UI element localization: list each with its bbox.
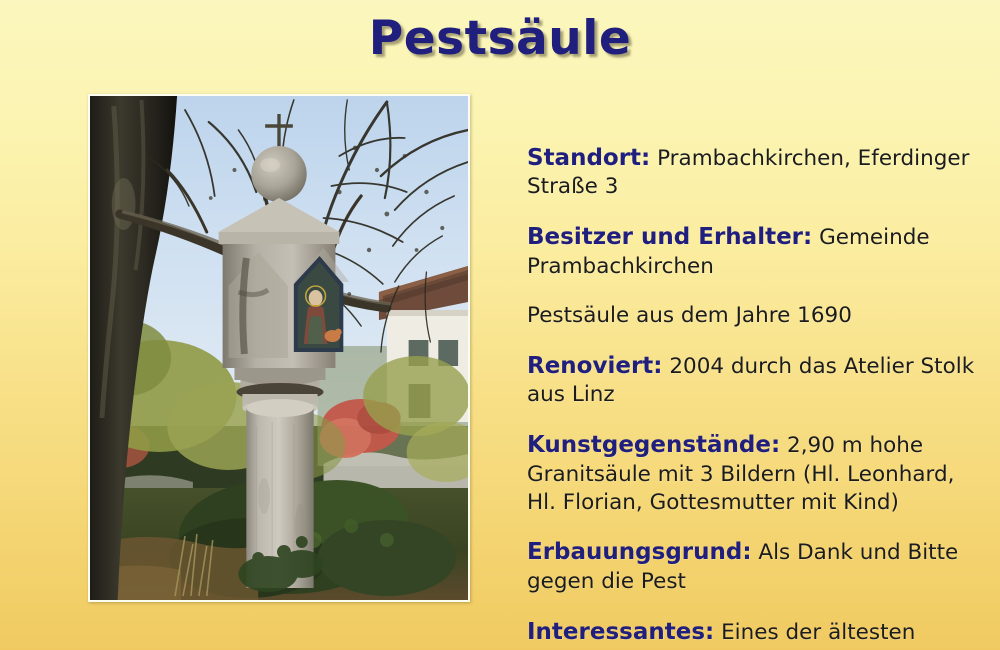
fact-baujahr: Pestsäule aus dem Jahre 1690 [527, 302, 975, 330]
fact-label-renoviert: Renoviert: [527, 353, 663, 379]
facts-list: Standort: Prambachkirchen, Eferdinger St… [527, 122, 975, 650]
page-title: Pestsäule [0, 14, 1000, 63]
slide-root: Pestsäule [0, 0, 1000, 650]
fact-besitzer: Besitzer und Erhalter: Gemeinde Prambach… [527, 223, 975, 281]
fact-renoviert: Renoviert: 2004 durch das Atelier Stolk … [527, 352, 975, 410]
fact-label-kunstgegenstaende: Kunstgegenstände: [527, 432, 780, 458]
fact-label-erbauungsgrund: Erbauungsgrund: [527, 539, 752, 565]
photo-frame [88, 94, 470, 602]
fact-interessantes: Interessantes: Eines der ältesten Denkmä… [527, 618, 975, 650]
stone-sphere [251, 146, 306, 202]
fact-erbauungsgrund: Erbauungsgrund: Als Dank und Bitte gegen… [527, 538, 975, 596]
fact-text-baujahr: Pestsäule aus dem Jahre 1690 [527, 303, 852, 328]
fact-kunstgegenstaende: Kunstgegenstände: 2,90 m hohe Granitsäul… [527, 431, 975, 517]
photo-illustration [90, 96, 468, 600]
monument-photo [90, 96, 468, 600]
fact-standort: Standort: Prambachkirchen, Eferdinger St… [527, 144, 975, 202]
fact-label-standort: Standort: [527, 145, 650, 171]
fact-label-besitzer: Besitzer und Erhalter: [527, 224, 812, 250]
fact-label-interessantes: Interessantes: [527, 619, 714, 645]
